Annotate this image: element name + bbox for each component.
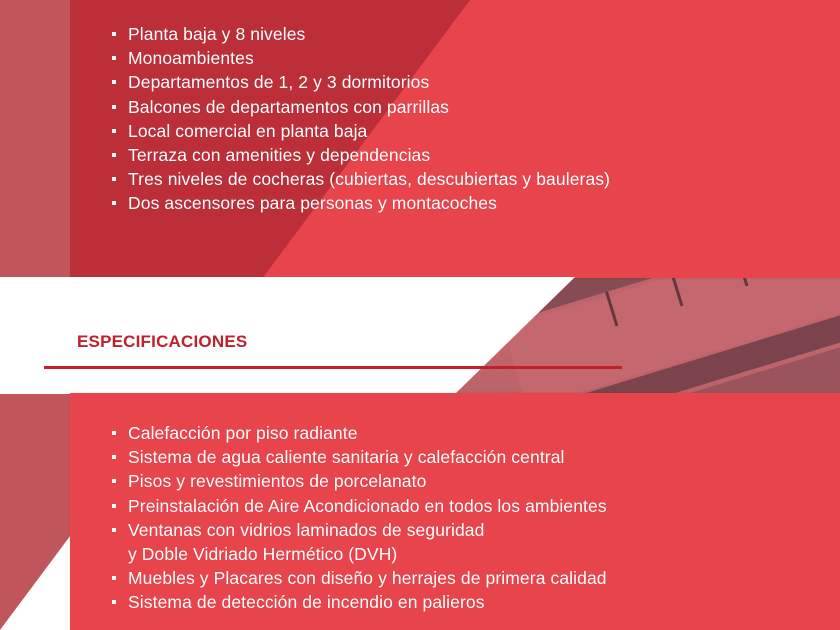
list-item: Balcones de departamentos con parrillas: [112, 95, 832, 119]
heading-divider: [44, 366, 622, 369]
list-item: Sistema de agua caliente sanitaria y cal…: [112, 445, 832, 469]
list-item: Sistema de detección de incendio en pali…: [112, 590, 832, 614]
list-item: Monoambientes: [112, 46, 832, 70]
specifications-list: Calefacción por piso radiante Sistema de…: [112, 421, 832, 615]
list-item: Calefacción por piso radiante: [112, 421, 832, 445]
list-item: Planta baja y 8 niveles: [112, 22, 832, 46]
list-item: Dos ascensores para personas y montacoch…: [112, 191, 832, 215]
page-title: ESPECIFICACIONES: [77, 332, 247, 352]
list-item: Preinstalación de Aire Acondicionado en …: [112, 494, 832, 518]
list-item: Local comercial en planta baja: [112, 119, 832, 143]
features-list: Planta baja y 8 niveles Monoambientes De…: [112, 22, 832, 216]
list-item: Departamentos de 1, 2 y 3 dormitorios: [112, 70, 832, 94]
list-item: Pisos y revestimientos de porcelanato: [112, 469, 832, 493]
list-item: Terraza con amenities y dependencias: [112, 143, 832, 167]
list-item-continuation: y Doble Vidriado Hermético (DVH): [112, 542, 832, 566]
list-item: Muebles y Placares con diseño y herrajes…: [112, 566, 832, 590]
list-item: Tres niveles de cocheras (cubiertas, des…: [112, 167, 832, 191]
brochure-page: Planta baja y 8 niveles Monoambientes De…: [0, 0, 840, 630]
list-item: Ventanas con vidrios laminados de seguri…: [112, 518, 832, 542]
